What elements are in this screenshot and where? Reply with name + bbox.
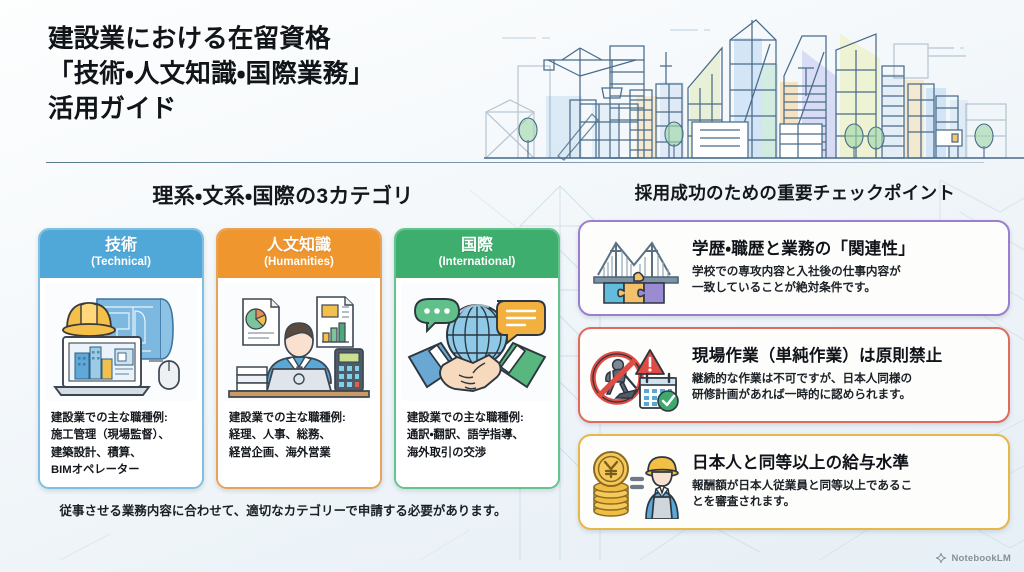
checkpoint-no-manual-labor[interactable]: 現場作業（単純作業）は原則禁止 継続的な作業は不可ですが、日本人同様の 研修計画… [578,327,1010,423]
category-title-jp: 技術 [44,237,198,255]
category-body-technical: 建設業での主な職種例: 施工管理（現場監督）、 建築設計、積算、 BIMオペレー… [40,278,202,487]
checkpoints-heading: 採用成功のための重要チェックポイント [566,180,1024,205]
yen-coins-equals-worker-icon [590,445,682,519]
international-illustration [401,283,553,401]
technical-illustration [45,283,197,401]
checkpoints-column: 採用成功のための重要チェックポイント [566,168,1024,572]
checkpoint-list: 学歴・職歴と業務の「関連性」 学校での専攻内容と入社後の仕事内容が 一致している… [578,220,1010,530]
notebooklm-spark-icon [935,552,947,564]
category-body-humanities: 建設業での主な職種例: 経理、人事、総務、 経営企画、海外営業 [218,278,380,487]
checkpoint-equal-wage[interactable]: 日本人と同等以上の給与水準 報酬額が日本人従業員と同等以上であるこ とを審査され… [578,434,1010,530]
checkpoint-title: 学歴・職歴と業務の「関連性」 [692,239,996,260]
city-skyline-icon [484,4,1024,164]
category-header-technical: 技術 (Technical) [40,230,202,278]
checkpoint-title: 日本人と同等以上の給与水準 [692,453,996,474]
category-jobs-technical: 建設業での主な職種例: 施工管理（現場監督）、 建築設計、積算、 BIMオペレー… [45,410,197,481]
category-title-en: (International) [400,256,554,270]
checkpoint-text: 学歴・職歴と業務の「関連性」 学校での専攻内容と入社後の仕事内容が 一致している… [692,239,996,297]
categories-note: 従事させる業務内容に合わせて、適切なカテゴリーで申請する必要があります。 [0,501,566,519]
checkpoint-desc: 学校での専攻内容と入社後の仕事内容が 一致していることが絶対条件です。 [692,264,996,298]
checkpoint-title: 現場作業（単純作業）は原則禁止 [692,346,996,367]
checkpoint-desc: 報酬額が日本人従業員と同等以上であるこ とを審査されます。 [692,478,996,512]
page-title: 建設業における在留資格 「技術・人文知識・国際業務」 活用ガイド [48,22,518,128]
checkpoint-text: 現場作業（単純作業）は原則禁止 継続的な作業は不可ですが、日本人同様の 研修計画… [692,346,996,404]
checkpoint-relevance[interactable]: 学歴・職歴と業務の「関連性」 学校での専攻内容と入社後の仕事内容が 一致している… [578,220,1010,316]
poster-header: 建設業における在留資格 「技術・人文知識・国際業務」 活用ガイド [0,0,1024,163]
category-jobs-humanities: 建設業での主な職種例: 経理、人事、総務、 経営企画、海外営業 [223,410,375,463]
infographic-poster: 建設業における在留資格 「技術・人文知識・国際業務」 活用ガイド [0,0,1024,572]
no-manual-labor-warning-calendar-icon [590,338,682,412]
bridge-puzzle-icon [590,231,682,305]
category-title-jp: 国際 [400,237,554,255]
header-divider [46,162,984,163]
category-title-en: (Technical) [44,256,198,270]
category-body-international: 建設業での主な職種例: 通訳・翻訳、語学指導、 海外取引の交渉 [396,278,558,487]
humanities-illustration [223,283,375,401]
category-title-jp: 人文知識 [222,237,376,255]
category-jobs-international: 建設業での主な職種例: 通訳・翻訳、語学指導、 海外取引の交渉 [401,410,553,463]
category-card-technical[interactable]: 技術 (Technical) [38,228,204,489]
categories-heading: 理系・文系・国際の3カテゴリ [0,180,566,210]
category-card-international[interactable]: 国際 (International) [394,228,560,489]
category-header-humanities: 人文知識 (Humanities) [218,230,380,278]
watermark-label: NotebookLM [951,553,1011,564]
category-card-humanities[interactable]: 人文知識 (Humanities) [216,228,382,489]
checkpoint-desc: 継続的な作業は不可ですが、日本人同様の 研修計画があれば一時的に認められます。 [692,371,996,405]
category-title-en: (Humanities) [222,256,376,270]
category-card-list: 技術 (Technical) [38,228,560,489]
checkpoint-text: 日本人と同等以上の給与水準 報酬額が日本人従業員と同等以上であるこ とを審査され… [692,453,996,511]
category-header-international: 国際 (International) [396,230,558,278]
notebooklm-watermark: NotebookLM [935,552,1011,564]
categories-column: 理系・文系・国際の3カテゴリ 技術 (Technical) [0,168,566,572]
